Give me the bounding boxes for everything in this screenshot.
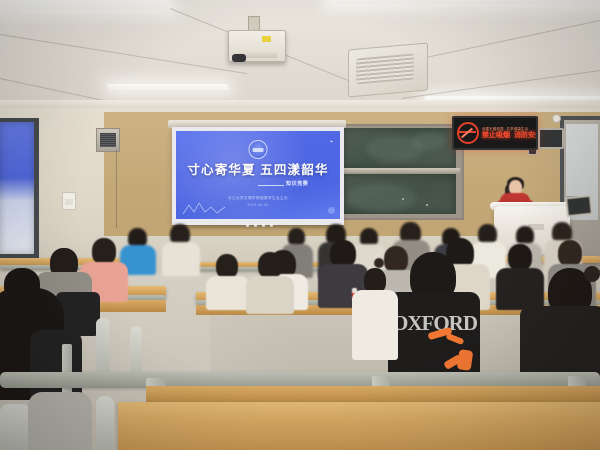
- student-head: [384, 246, 408, 273]
- ceiling-light-strip: [106, 84, 229, 90]
- podium-monitor: [565, 195, 593, 218]
- student-body-black-jacket: [520, 306, 600, 378]
- no-smoking-icon: [457, 122, 479, 144]
- seat-support: [96, 318, 110, 376]
- led-sign-line2-right: 消防安全: [514, 132, 538, 140]
- led-sign-line2-left: 禁止吸烟: [482, 132, 510, 140]
- slide-corner-accent: [328, 207, 335, 214]
- slide-subtitle: 知识竞赛: [286, 181, 336, 188]
- ceiling-seam: [0, 34, 247, 74]
- student-head: [508, 244, 532, 271]
- ceiling-light-strip: [329, 0, 600, 4]
- student-body: [496, 268, 544, 310]
- projector-lens: [232, 54, 246, 62]
- blackboard-upper-panel: [340, 128, 456, 168]
- student-body: [206, 276, 250, 310]
- ceiling-camera: [552, 114, 561, 123]
- wall-monitor: [538, 128, 564, 149]
- blackboard-lower-panel: [340, 174, 456, 214]
- projection-screen: 寸心寄华夏 五四漾韶华 知识竞赛 长江大学文理学院团委学生会主办 2023-05…: [176, 131, 340, 219]
- student-body-cream-tee: [162, 242, 200, 276]
- projector-label: [262, 36, 271, 42]
- student-head: [558, 240, 582, 267]
- wall-light-switch[interactable]: [62, 192, 76, 210]
- wall-trim: [0, 100, 600, 108]
- wall-cable: [116, 150, 117, 228]
- student-hair-bun: [584, 266, 600, 282]
- slide-title: 寸心寄华夏 五四漾韶华: [176, 163, 340, 177]
- classroom-photo: 寸 创建无烟校园 共享健康生活 禁止吸烟 消防: [0, 0, 600, 450]
- slide-divider: [258, 185, 284, 186]
- mountain-line-art-icon: [182, 201, 226, 215]
- foreground-desk-top: [118, 402, 600, 450]
- student-legs: [28, 392, 92, 450]
- ceiling-seam: [402, 70, 600, 99]
- student-body-white-tee: [352, 290, 398, 360]
- wall-speaker: [96, 128, 120, 152]
- slide-nav-dots[interactable]: [246, 224, 273, 227]
- blackboard-rail: [336, 168, 460, 173]
- seat-support: [96, 396, 114, 450]
- student-head: [258, 252, 282, 279]
- university-emblem-icon: [249, 140, 268, 159]
- led-sign-line1-right: 共享健康生活: [507, 127, 529, 131]
- student-body: [246, 276, 294, 314]
- seat-support: [0, 404, 30, 450]
- left-window: 寸: [0, 118, 39, 258]
- student-hair-bun: [374, 258, 384, 268]
- student-head: [92, 238, 116, 265]
- ceiling-light-strip: [0, 0, 173, 10]
- led-safety-sign: 创建无烟校园 共享健康生活 禁止吸烟 消防安全: [452, 116, 538, 150]
- led-sign-line1-left: 创建无烟校园: [482, 127, 504, 131]
- pointer-cursor-icon: ⌖: [330, 139, 333, 145]
- ac-vent-grille: [356, 53, 414, 84]
